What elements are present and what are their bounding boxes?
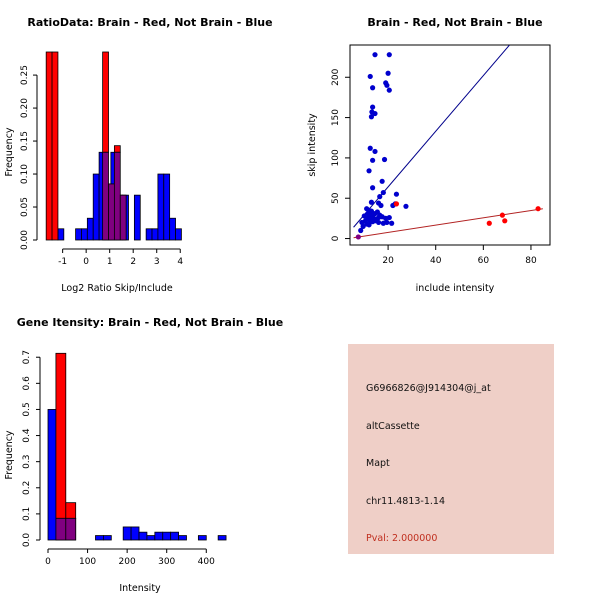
y-axis-tick-label: 0.4: [22, 428, 32, 443]
histogram-bar-overlap: [103, 152, 109, 240]
scatter-point-red: [356, 234, 361, 239]
histogram-bar-blue: [87, 218, 93, 240]
info-probeset-id: G6966826@J914304@j_at: [366, 383, 491, 394]
gene-histogram-ylabel: Frequency: [4, 430, 15, 479]
intensity-scatter-panel: Brain - Red, Not Brain - Blue 0501001502…: [300, 0, 600, 300]
x-axis-tick-label: 2: [130, 257, 136, 267]
gene-intensity-histogram-svg: Gene Itensity: Brain - Red, Not Brain - …: [0, 300, 300, 600]
intensity-scatter-title: Brain - Red, Not Brain - Blue: [367, 16, 542, 29]
scatter-point-red: [487, 221, 492, 226]
histogram-bar-blue: [123, 527, 131, 540]
histogram-bar-red: [103, 52, 109, 152]
scatter-point-blue: [359, 220, 364, 225]
y-axis-tick-label: 200: [331, 68, 341, 85]
info-pvalue: Pval: 2.000000: [366, 533, 437, 544]
ratio-histogram-xlabel: Log2 Ratio Skip/Include: [61, 283, 173, 294]
scatter-point-blue: [389, 221, 394, 226]
x-axis-tick-label: 100: [79, 557, 96, 567]
x-axis-tick-label: 1: [107, 257, 113, 267]
gene-histogram-bars: [48, 353, 226, 540]
ratio-histogram-ylabel: Frequency: [4, 127, 15, 176]
scatter-point-blue: [370, 158, 375, 163]
y-axis-tick-label: 0.15: [20, 131, 30, 151]
y-axis-tick-label: 50: [331, 192, 341, 204]
histogram-bar-blue: [103, 536, 111, 540]
histogram-bar-blue: [81, 229, 87, 240]
scatter-point-blue: [370, 85, 375, 90]
intensity-scatter-svg: Brain - Red, Not Brain - Blue 0501001502…: [300, 0, 600, 300]
scatter-point-blue: [378, 203, 383, 208]
info-locus: chr11.4813-1.14: [366, 496, 445, 507]
histogram-bar-blue: [176, 229, 182, 240]
scatter-ylabel: skip intensity: [307, 113, 318, 177]
histogram-bar-blue: [58, 229, 64, 240]
scatter-point-blue: [387, 88, 392, 93]
y-axis-tick-label: 0.5: [22, 402, 32, 416]
scatter-point-blue: [384, 83, 389, 88]
scatter-point-blue: [366, 222, 371, 227]
histogram-bar-blue: [198, 536, 206, 540]
histogram-bar-blue: [218, 536, 226, 540]
x-axis-tick-label: 80: [525, 256, 537, 266]
y-axis-tick-label: 0.00: [20, 230, 30, 250]
ratio-histogram-title: RatioData: Brain - Red, Not Brain - Blue: [27, 16, 272, 29]
histogram-bar-blue: [155, 532, 163, 540]
scatter-point-blue: [362, 213, 367, 218]
gene-histogram-title: Gene Itensity: Brain - Red, Not Brain - …: [17, 316, 283, 329]
y-axis-tick-label: 0.1: [22, 507, 32, 521]
scatter-fit-lines: [354, 45, 543, 238]
scatter-point-red: [500, 213, 505, 218]
scatter-point-blue: [387, 215, 392, 220]
scatter-point-blue: [403, 204, 408, 209]
y-axis-tick-label: 0.2: [22, 481, 32, 495]
histogram-bar-red: [46, 52, 52, 240]
scatter-point-blue: [366, 168, 371, 173]
scatter-point-blue: [372, 111, 377, 116]
y-axis-tick-label: 0.7: [22, 350, 32, 364]
info-gene-symbol: Mapt: [366, 458, 390, 469]
scatter-point-blue: [368, 74, 373, 79]
histogram-bar-blue: [93, 174, 99, 240]
x-axis-tick-label: 300: [158, 557, 175, 567]
scatter-point-red: [502, 218, 507, 223]
histogram-bar-red: [66, 503, 76, 519]
scatter-xlabel: include intensity: [416, 283, 495, 294]
scatter-point-blue: [370, 104, 375, 109]
gene-info-box: G6966826@J914304@j_at altCassette Mapt c…: [348, 344, 554, 554]
histogram-bar-blue: [76, 229, 82, 240]
histogram-bar-blue: [163, 532, 171, 540]
histogram-bar-blue: [146, 229, 152, 240]
y-axis-tick-label: 0.10: [20, 164, 30, 184]
x-axis-tick-label: 400: [198, 557, 215, 567]
scatter-point-blue: [387, 52, 392, 57]
gene-intensity-histogram-panel: Gene Itensity: Brain - Red, Not Brain - …: [0, 300, 300, 600]
scatter-point-blue: [377, 194, 382, 199]
y-axis-tick-label: 0.20: [20, 98, 30, 118]
scatter-point-red: [535, 206, 540, 211]
histogram-bar-red: [56, 353, 66, 518]
histogram-bar-blue: [134, 195, 140, 240]
histogram-bar-overlap: [66, 518, 76, 540]
y-axis-tick-label: 0.05: [20, 197, 30, 217]
gene-histogram-xlabel: Intensity: [119, 583, 161, 594]
y-axis-tick-label: 100: [331, 149, 341, 166]
histogram-bar-blue: [170, 218, 176, 240]
y-axis-tick-label: 0.25: [20, 65, 30, 85]
histogram-bar-blue: [95, 536, 103, 540]
ratio-histogram-svg: RatioData: Brain - Red, Not Brain - Blue…: [0, 0, 300, 300]
y-axis-tick-label: 0: [331, 235, 341, 241]
scatter-point-blue: [372, 149, 377, 154]
scatter-point-blue: [368, 146, 373, 151]
scatter-point-blue: [370, 185, 375, 190]
scatter-point-blue: [381, 190, 386, 195]
scatter-point-red: [394, 201, 399, 206]
scatter-point-blue: [394, 192, 399, 197]
histogram-bar-red: [114, 146, 120, 153]
x-axis-tick-label: 0: [83, 257, 89, 267]
scatter-point-blue: [376, 220, 381, 225]
x-axis-tick-label: 60: [478, 256, 490, 266]
histogram-bar-blue: [171, 532, 179, 540]
x-axis-tick-label: 200: [119, 557, 136, 567]
gene-info-panel: G6966826@J914304@j_at altCassette Mapt c…: [300, 300, 600, 600]
histogram-bar-overlap: [56, 518, 66, 540]
info-event-type: altCassette: [366, 421, 420, 432]
x-axis-tick-label: 3: [154, 257, 160, 267]
x-axis-tick-label: 0: [45, 557, 51, 567]
scatter-point-blue: [384, 220, 389, 225]
y-axis-tick-label: 150: [331, 109, 341, 126]
x-axis-tick-label: 4: [177, 257, 183, 267]
x-axis-tick-label: 40: [430, 256, 442, 266]
scatter-point-blue: [372, 52, 377, 57]
scatter-point-blue: [385, 71, 390, 76]
histogram-bar-blue: [179, 536, 187, 540]
fit-line-blue: [354, 45, 510, 227]
histogram-bar-red: [52, 52, 58, 240]
ratio-histogram-bars: [46, 52, 181, 240]
histogram-bar-blue: [131, 527, 139, 540]
scatter-point-blue: [369, 200, 374, 205]
ratio-histogram-panel: RatioData: Brain - Red, Not Brain - Blue…: [0, 0, 300, 300]
scatter-data-points: [356, 52, 541, 239]
x-axis-tick-label: -1: [58, 257, 67, 267]
y-axis-tick-label: 0.3: [22, 455, 32, 469]
histogram-bar-blue: [48, 409, 56, 540]
histogram-bar-blue: [152, 229, 158, 240]
histogram-bar-blue: [139, 532, 147, 540]
histogram-bar-blue: [164, 174, 170, 240]
histogram-bar-overlap: [109, 184, 115, 240]
y-axis-tick-label: 0.6: [22, 376, 32, 391]
histogram-bar-overlap: [120, 195, 126, 240]
histogram-bar-overlap: [114, 152, 120, 240]
x-axis-tick-label: 20: [382, 256, 394, 266]
histogram-bar-blue: [158, 174, 164, 240]
histogram-bar-blue: [147, 536, 155, 540]
y-axis-tick-label: 0.0: [22, 533, 32, 548]
scatter-point-blue: [380, 179, 385, 184]
scatter-point-blue: [382, 157, 387, 162]
scatter-point-blue: [358, 228, 363, 233]
